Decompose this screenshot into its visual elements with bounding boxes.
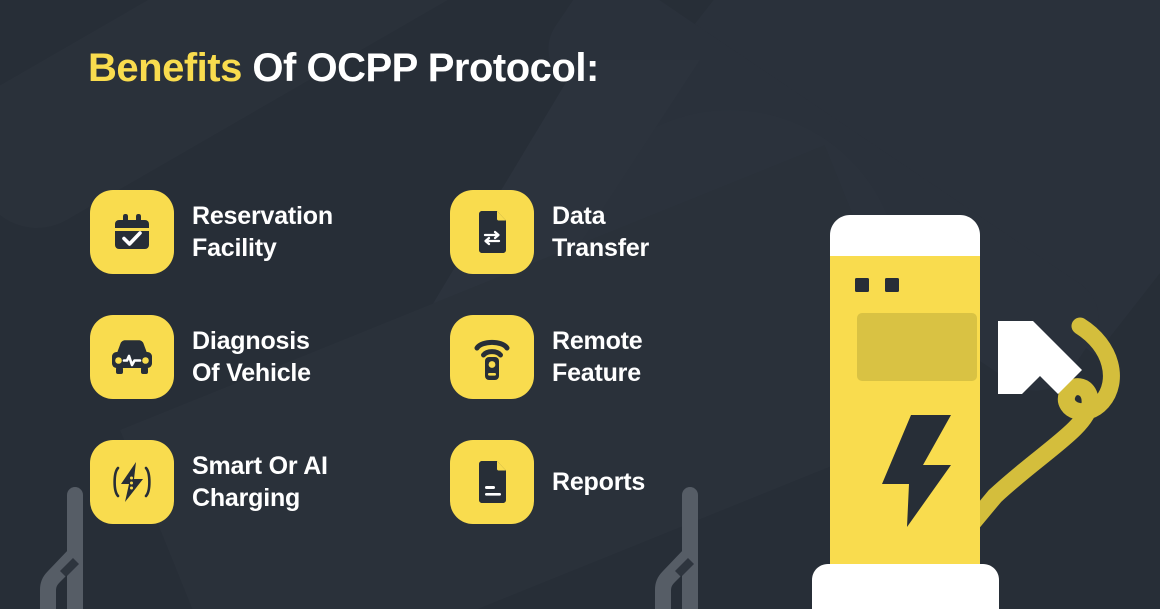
benefit-item-reports[interactable]: Reports [450, 440, 645, 524]
benefit-label-remote-feature: Remote Feature [552, 325, 643, 389]
indicator-light-left [855, 278, 869, 292]
benefit-item-diagnosis-of-vehicle[interactable]: Diagnosis Of Vehicle [90, 315, 311, 399]
charger-top-cap [830, 215, 980, 258]
indicator-light-right [885, 278, 899, 292]
benefit-item-reservation-facility[interactable]: Reservation Facility [90, 190, 333, 274]
page-title-rest: Of OCPP Protocol: [242, 46, 599, 90]
benefit-label-data-transfer: Data Transfer [552, 200, 649, 264]
benefit-label-reservation-facility: Reservation Facility [192, 200, 333, 264]
remote-signal-icon [450, 315, 534, 399]
page-title-highlight: Benefits [88, 46, 242, 90]
benefit-item-remote-feature[interactable]: Remote Feature [450, 315, 643, 399]
charger-screen [857, 313, 977, 381]
smart-bolt-icon [90, 440, 174, 524]
calendar-check-icon [90, 190, 174, 274]
page-title: Benefits Of OCPP Protocol: [88, 46, 599, 91]
benefit-label-diagnosis-of-vehicle: Diagnosis Of Vehicle [192, 325, 311, 389]
ev-charging-station-illustration [790, 196, 1160, 609]
benefit-label-reports: Reports [552, 466, 645, 498]
charger-body [830, 256, 980, 568]
decor-nozzle-right-icon [655, 487, 727, 609]
car-diagnostics-icon [90, 315, 174, 399]
infographic-canvas: Benefits Of OCPP Protocol: Reservati [0, 0, 1160, 609]
charger-base [812, 564, 999, 609]
benefit-item-smart-or-ai-charging[interactable]: Smart Or AI Charging [90, 440, 328, 524]
benefit-label-smart-or-ai-charging: Smart Or AI Charging [192, 450, 328, 514]
document-transfer-icon [450, 190, 534, 274]
benefit-item-data-transfer[interactable]: Data Transfer [450, 190, 649, 274]
document-lines-icon [450, 440, 534, 524]
